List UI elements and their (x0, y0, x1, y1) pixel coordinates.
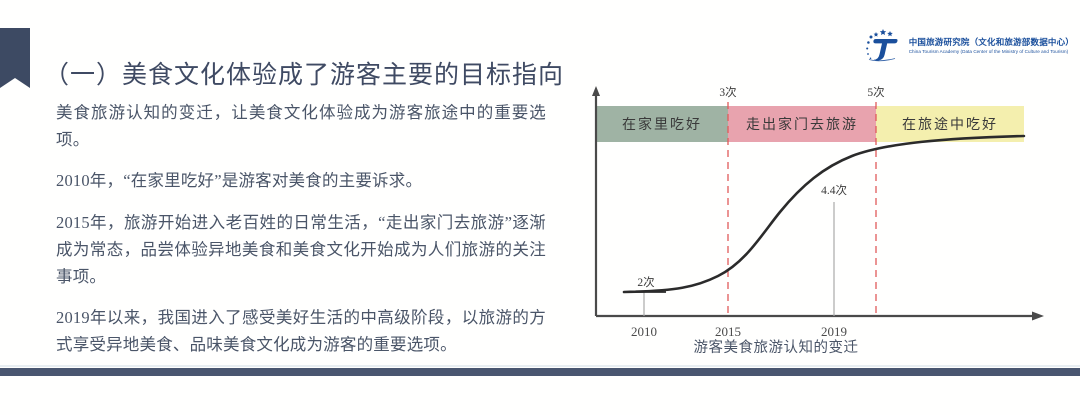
point-label-44ci: 4.4次 (821, 183, 847, 197)
band-label-travel: 走出家门去旅游 (746, 116, 858, 133)
paragraph-2: 2010年，“在家里吃好”是游客对美食的主要诉求。 (56, 168, 546, 195)
paragraph-1: 美食旅游认知的变迁，让美食文化体验成为游客旅途中的重要选项。 (56, 100, 546, 153)
band-label-ontrip: 在旅途中吃好 (902, 116, 998, 133)
paragraph-4: 2019年以来，我国进入了感受美好生活的中高级阶段，以旅游的方式享受异地美食、品… (56, 305, 546, 358)
bottom-accent-bar (0, 368, 1080, 376)
cognition-evolution-chart: 在家里吃好 走出家门去旅游 在旅途中吃好 3次 5次 2次 4.4次 (566, 84, 1066, 364)
band-label-home: 在家里吃好 (622, 116, 702, 133)
point-label-2ci: 2次 (637, 275, 655, 289)
x-axis-arrow (1032, 312, 1044, 321)
slide-canvas: （一）美食文化体验成了游客主要的目标指向 美食旅游认知的变迁，让美食文化体验成为… (0, 0, 1080, 415)
point-label-5ci: 5次 (867, 85, 885, 99)
logo-english-name: China Tourism Academy (Data Center of th… (909, 49, 1074, 54)
chart-caption: 游客美食旅游认知的变迁 (566, 336, 986, 357)
logo-text-block: 中国旅游研究院（文化和旅游部数据中心） China Tourism Academ… (909, 36, 1074, 55)
paragraph-3: 2015年，旅游开始进入老百姓的日常生活，“走出家门去旅游”逐渐成为常态，品尝体… (56, 210, 546, 290)
left-decorative-tab (0, 28, 30, 78)
point-label-3ci: 3次 (719, 85, 737, 99)
cognition-curve (624, 136, 1024, 292)
bottom-hairline (0, 365, 1080, 367)
page-title: （一）美食文化体验成了游客主要的目标指向 (44, 55, 564, 91)
y-axis-arrow (592, 86, 600, 96)
tourism-academy-t-star-icon (863, 28, 903, 62)
logo-chinese-name: 中国旅游研究院（文化和旅游部数据中心） (909, 36, 1074, 48)
organization-logo: 中国旅游研究院（文化和旅游部数据中心） China Tourism Academ… (863, 28, 1074, 62)
body-text-column: 美食旅游认知的变迁，让美食文化体验成为游客旅途中的重要选项。 2010年，“在家… (56, 100, 546, 359)
